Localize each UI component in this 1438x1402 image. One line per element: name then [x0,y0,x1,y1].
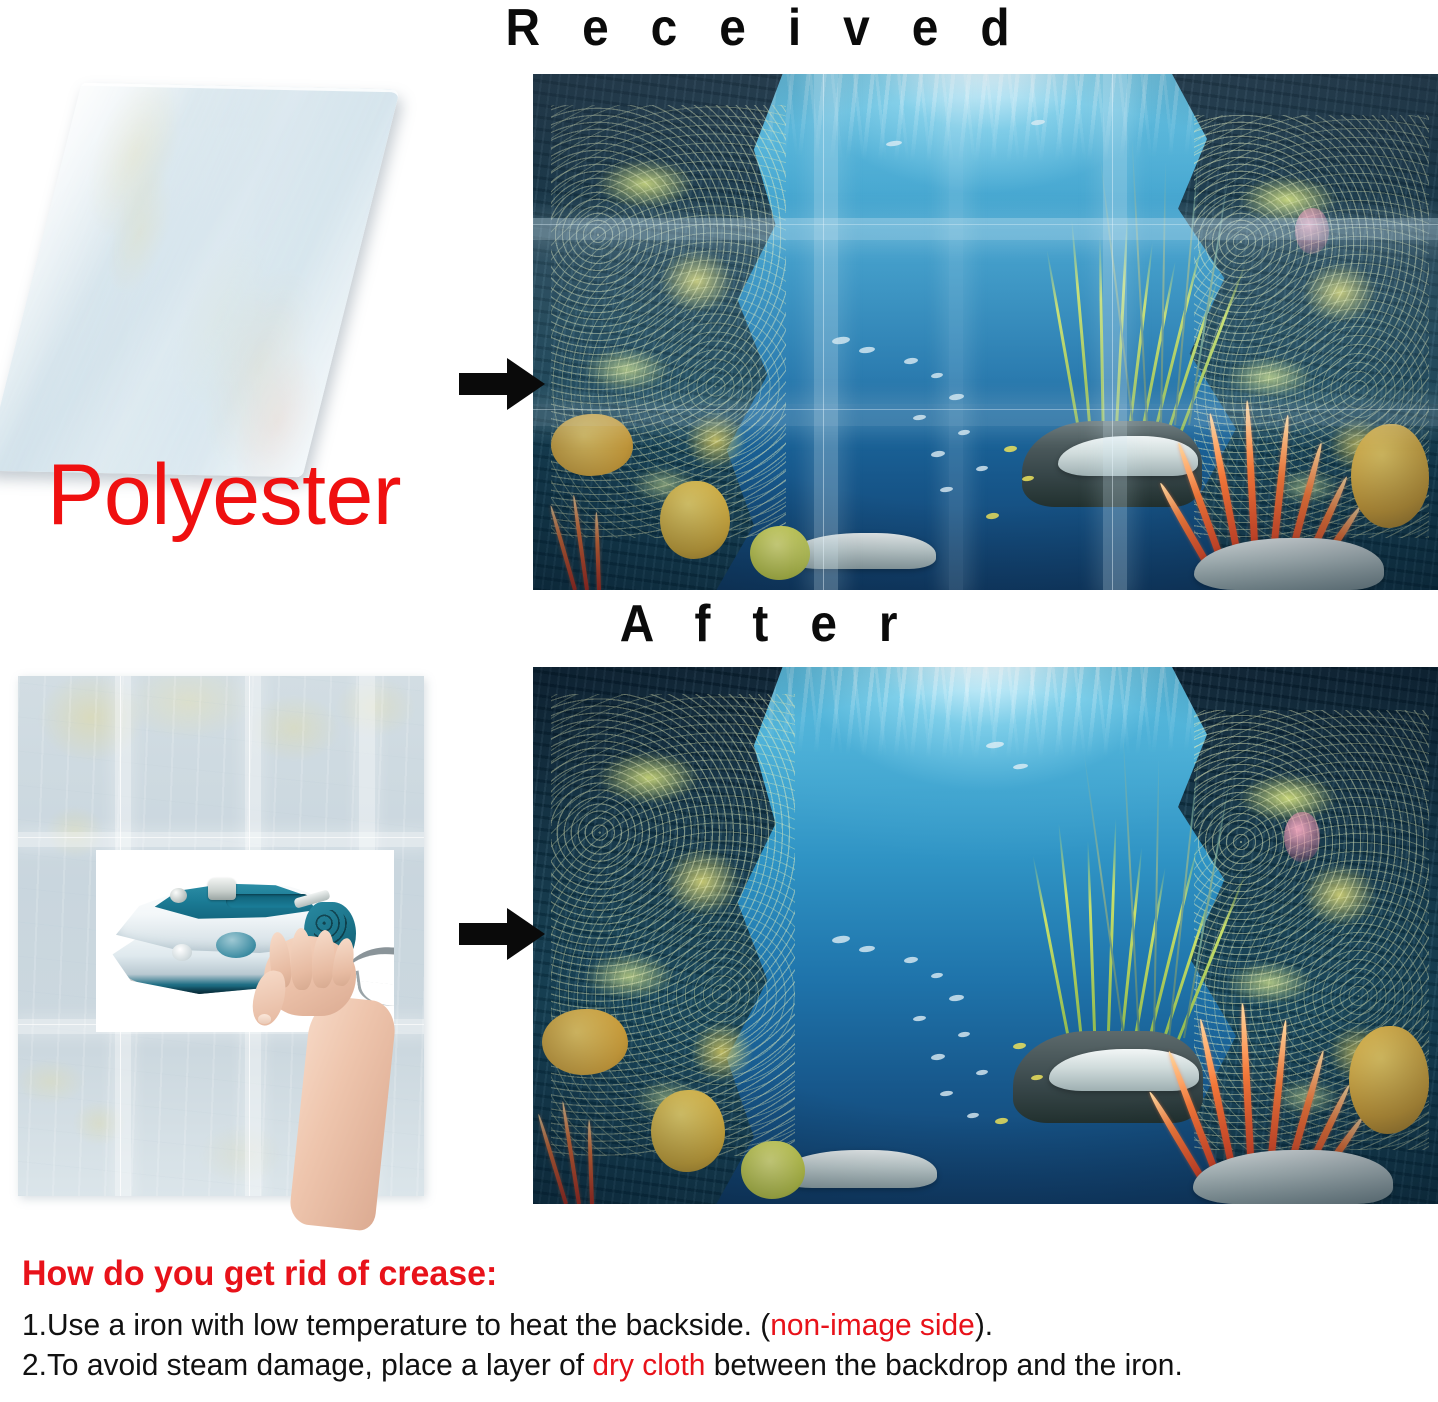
page-title-after: A f t e r [620,598,912,650]
yellow-coral-left [651,1090,725,1172]
thumbnail [258,1014,271,1024]
yellow-fan-coral-right [1349,1026,1429,1134]
instruction-1-text-b: ). [975,1307,993,1342]
instruction-1-text-a: 1.Use a iron with low temperature to hea… [22,1307,770,1342]
iron-burst-button [170,888,187,903]
instruction-2-text-b: between the backdrop and the iron. [705,1347,1182,1382]
instruction-2-text-a: 2.To avoid steam damage, place a layer o… [22,1347,592,1382]
iron-instruction-photo [96,850,394,1032]
green-coral-left [750,526,810,580]
instruction-1-emphasis: non-image side [770,1307,975,1342]
fold-crease-line [18,837,424,838]
folded-fabric-sheen [0,83,400,478]
right-arrow-icon [459,905,545,963]
instructions-title: How do you get rid of crease: [22,1256,1388,1291]
yellow-sponge-left [542,1009,628,1075]
folded-fabric-photo [20,86,420,486]
yellow-fan-coral-right [1351,424,1429,528]
after-backdrop-photo [533,667,1438,1204]
fold-crease-horizontal [18,832,424,847]
care-instructions: How do you get rid of crease: 1.Use a ir… [22,1256,1430,1386]
folded-fabric-sheet [0,83,400,478]
iron-steam-knob [208,878,236,900]
tall-sea-whips [1130,145,1226,425]
material-label: Polyester [47,452,401,538]
instruction-line-2: 2.To avoid steam damage, place a layer o… [22,1345,1381,1385]
left-coral-flecks [551,694,795,1156]
red-sea-whip-left [560,1100,608,1204]
tall-sea-whips [1121,738,1221,1038]
yellow-coral-left [660,481,730,559]
green-coral-left [741,1141,805,1199]
iron-spray-button [172,944,192,961]
instruction-2-emphasis: dry cloth [592,1347,705,1382]
page-title-received: R e c e i v e d [506,2,1024,54]
right-arrow-icon [459,355,545,413]
instruction-line-1: 1.Use a iron with low temperature to hea… [22,1305,1381,1345]
red-sea-whip-left [569,494,615,590]
received-backdrop-photo [533,74,1438,590]
iron-temperature-dial [216,932,256,958]
